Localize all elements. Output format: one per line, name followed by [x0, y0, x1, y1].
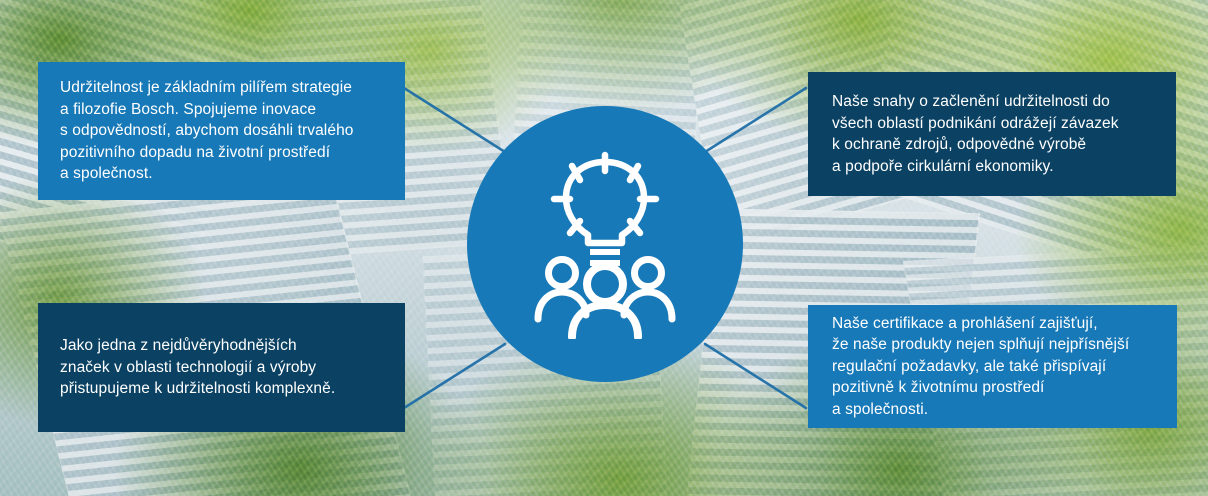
lightbulb-people-icon: [510, 149, 700, 339]
panel-commitment: Naše snahy o začlenění udržitelnosti do …: [808, 72, 1176, 196]
center-icon-badge: [467, 106, 743, 382]
panel-commitment-text: Naše snahy o začlenění udržitelnosti do …: [832, 91, 1156, 177]
sustainability-infographic: Udržitelnost je základním pilířem strate…: [0, 0, 1208, 496]
ray-line-top-right: [705, 88, 806, 152]
ray-line-top-left: [404, 88, 505, 152]
person-right: [624, 260, 672, 320]
panel-strategy: Udržitelnost je základním pilířem strate…: [38, 62, 405, 200]
panel-brand-text: Jako jedna z nejdůvěryhodnějších značek …: [60, 335, 383, 400]
ray-line-bottom-right: [705, 344, 806, 408]
ray-line-bottom-left: [404, 344, 505, 408]
panel-certification: Naše certifikace a prohlášení zajišťují,…: [808, 305, 1177, 428]
person-left: [538, 260, 586, 320]
panel-strategy-text: Udržitelnost je základním pilířem strate…: [60, 77, 383, 185]
panel-brand: Jako jedna z nejdůvěryhodnějších značek …: [38, 303, 405, 432]
panel-certification-text: Naše certifikace a prohlášení zajišťují,…: [832, 313, 1157, 421]
